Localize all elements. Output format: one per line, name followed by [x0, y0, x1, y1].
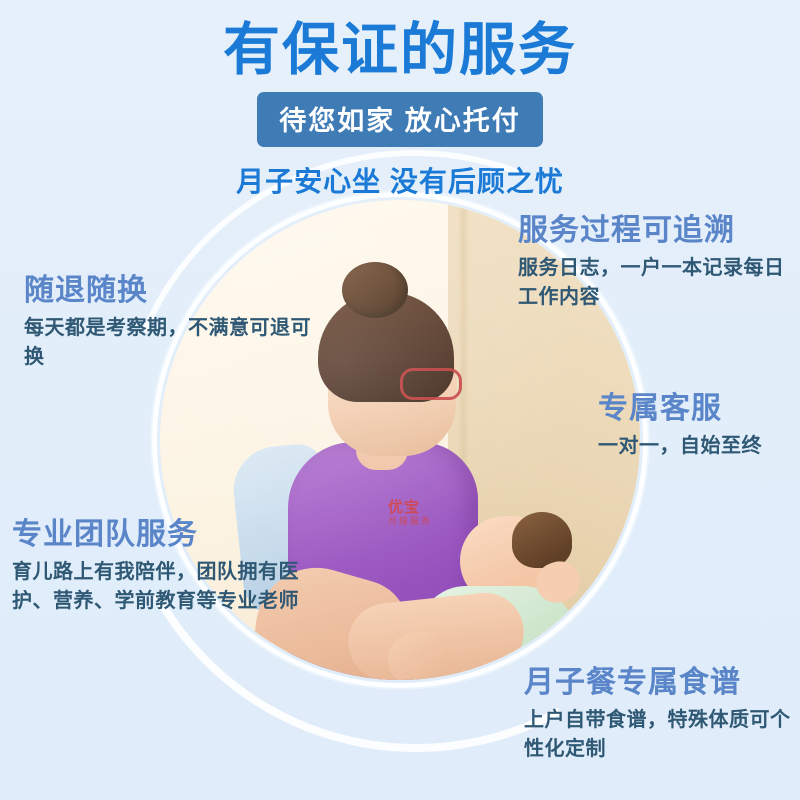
- caregiver-hair-bun: [342, 262, 408, 318]
- page-title: 有保证的服务: [0, 0, 800, 82]
- feature-dedicated-support-heading: 专属客服: [598, 392, 798, 426]
- feature-postpartum-menu-heading: 月子餐专属食谱: [524, 666, 792, 700]
- feature-refund-heading: 随退随换: [24, 274, 324, 308]
- feature-refund: 随退随换 每天都是考察期，不满意可退可换: [24, 274, 324, 372]
- feature-professional-team-heading: 专业团队服务: [12, 518, 312, 552]
- feature-professional-team-body: 育儿路上有我陪伴，团队拥有医护、营养、学前教育等专业老师: [12, 558, 312, 616]
- caregiver-glasses: [400, 368, 462, 400]
- promo-poster: 有保证的服务 待您如家 放心托付 月子安心坐 没有后顾之忧 优宝 月嫂服务: [0, 0, 800, 800]
- feature-refund-body: 每天都是考察期，不满意可退可换: [24, 314, 324, 372]
- uniform-logo-sub: 月嫂服务: [388, 514, 432, 527]
- feature-traceability: 服务过程可追溯 服务日志，一户一本记录每日工作内容: [518, 214, 790, 312]
- feature-traceability-heading: 服务过程可追溯: [518, 214, 790, 248]
- page-subtitle: 月子安心坐 没有后顾之忧: [0, 160, 800, 200]
- tagline-badge: 待您如家 放心托付: [257, 92, 543, 147]
- poster-header: 有保证的服务 待您如家 放心托付 月子安心坐 没有后顾之忧: [0, 0, 800, 200]
- feature-professional-team: 专业团队服务 育儿路上有我陪伴，团队拥有医护、营养、学前教育等专业老师: [12, 518, 312, 616]
- feature-traceability-body: 服务日志，一户一本记录每日工作内容: [518, 254, 790, 312]
- feature-postpartum-menu-body: 上户自带食谱，特殊体质可个性化定制: [524, 706, 792, 764]
- feature-dedicated-support: 专属客服 一对一，自始至终: [598, 392, 798, 461]
- feature-dedicated-support-body: 一对一，自始至终: [598, 432, 798, 461]
- feature-postpartum-menu: 月子餐专属食谱 上户自带食谱，特殊体质可个性化定制: [524, 666, 792, 764]
- baby-hair: [512, 512, 572, 568]
- badge-wrapper: 待您如家 放心托付: [0, 92, 800, 147]
